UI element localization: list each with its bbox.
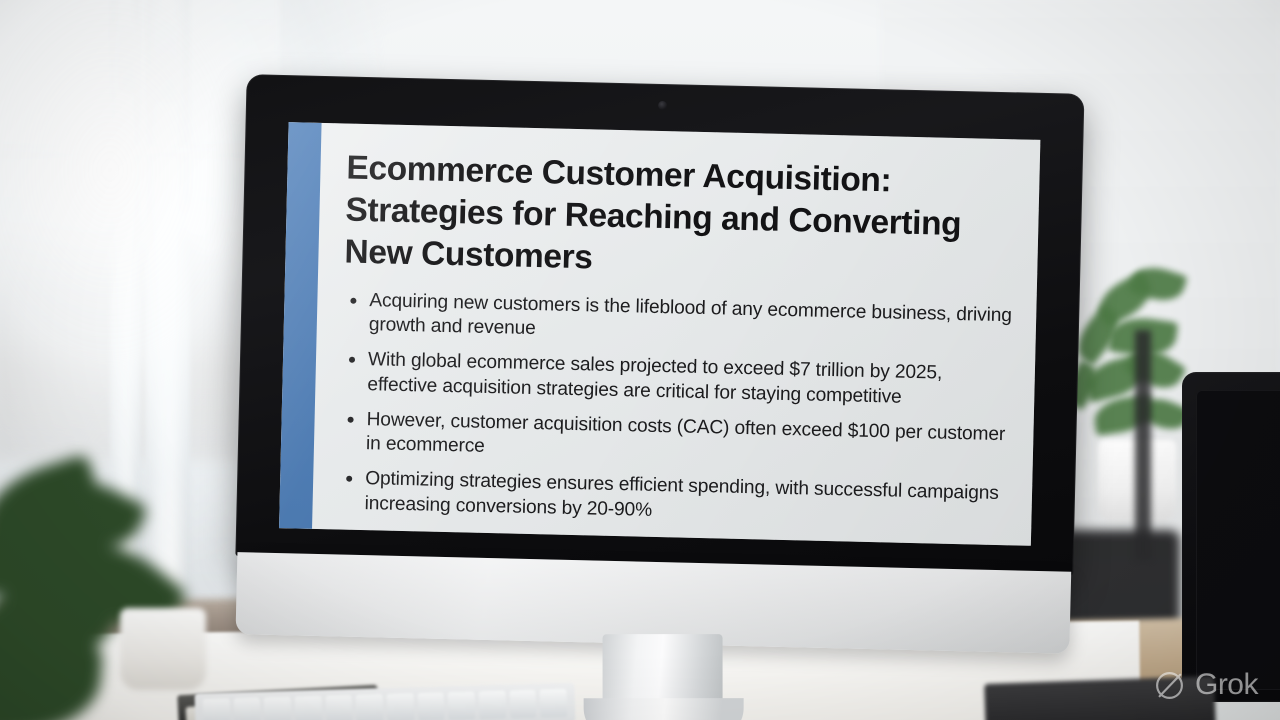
keyboard-key <box>264 697 291 720</box>
slide-bullet: Acquiring new customers is the lifeblood… <box>343 288 1013 353</box>
keyboard-key <box>509 690 536 719</box>
imac-monitor: Ecommerce Customer Acquisition: Strategi… <box>234 74 1087 654</box>
monitor-screen: Ecommerce Customer Acquisition: Strategi… <box>279 122 1040 546</box>
grok-logo-icon <box>1153 669 1186 702</box>
presentation-slide: Ecommerce Customer Acquisition: Strategi… <box>279 122 1040 546</box>
slide-bullet: Optimizing strategies ensures efficient … <box>338 467 1008 532</box>
secondary-monitor-screen <box>1196 390 1280 690</box>
screenshot-scene: Ecommerce Customer Acquisition: Strategi… <box>0 0 1280 720</box>
keyboard-key <box>387 693 414 720</box>
keyboard-key <box>448 691 475 720</box>
keyboard-key <box>417 692 444 720</box>
keyboard-key <box>479 691 506 720</box>
slide-bullet: With global ecommerce sales projected to… <box>341 348 1011 413</box>
monitor-stand-base <box>584 698 744 720</box>
keyboard-key <box>356 694 383 720</box>
monitor-bezel: Ecommerce Customer Acquisition: Strategi… <box>235 74 1084 576</box>
webcam-icon <box>658 101 667 110</box>
secondary-monitor <box>1182 372 1280 702</box>
keyboard-key <box>295 696 322 720</box>
slide-bullet-list: Acquiring new customers is the lifeblood… <box>338 288 1012 542</box>
monitor-stand-bar <box>1135 330 1151 560</box>
slide-title: Ecommerce Customer Acquisition: Strategi… <box>344 148 1007 290</box>
keyboard-key <box>540 689 567 718</box>
plant-leaf <box>0 635 103 720</box>
foreground-plant-pot <box>120 608 206 690</box>
slide-content: Ecommerce Customer Acquisition: Strategi… <box>312 123 1040 546</box>
keyboard-key <box>325 695 352 720</box>
grok-watermark-label: Grok <box>1195 668 1258 702</box>
slide-bullet: However, customer acquisition costs (CAC… <box>340 407 1010 472</box>
keyboard-key <box>233 697 260 720</box>
grok-watermark: Grok <box>1153 668 1258 702</box>
